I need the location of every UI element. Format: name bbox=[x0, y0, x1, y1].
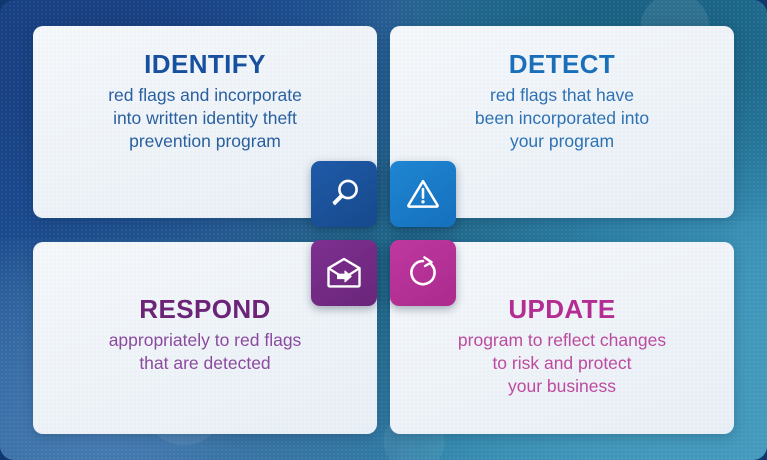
card-identify-body-line-2: into written identity theft bbox=[51, 107, 359, 130]
card-update-content: UPDATE program to reflect changes to ris… bbox=[390, 294, 734, 398]
card-identify-title: IDENTIFY bbox=[51, 49, 359, 80]
envelope-arrow-icon bbox=[324, 254, 364, 292]
card-detect-title: DETECT bbox=[408, 49, 716, 80]
card-respond-content: RESPOND appropriately to red flags that … bbox=[33, 294, 377, 375]
card-update-body: program to reflect changes to risk and p… bbox=[408, 329, 716, 399]
icon-tile-identify[interactable] bbox=[311, 161, 377, 227]
warning-triangle-icon bbox=[404, 175, 442, 213]
card-respond-body-line-1: appropriately to red flags bbox=[51, 329, 359, 352]
card-update-body-line-3: your business bbox=[408, 375, 716, 398]
card-detect-body-line-2: been incorporated into bbox=[408, 107, 716, 130]
card-respond-body: appropriately to red flags that are dete… bbox=[51, 329, 359, 376]
card-detect-body-line-1: red flags that have bbox=[408, 84, 716, 107]
card-identify-body: red flags and incorporate into written i… bbox=[51, 84, 359, 154]
card-identify-body-line-3: prevention program bbox=[51, 130, 359, 153]
icon-tile-detect[interactable] bbox=[390, 161, 456, 227]
card-detect-content: DETECT red flags that have been incorpor… bbox=[390, 49, 734, 153]
card-identify-body-line-1: red flags and incorporate bbox=[51, 84, 359, 107]
magnifier-icon bbox=[325, 175, 363, 213]
center-icon-cluster bbox=[311, 161, 456, 306]
card-identify-content: IDENTIFY red flags and incorporate into … bbox=[33, 49, 377, 153]
icon-tile-update[interactable] bbox=[390, 240, 456, 306]
card-detect-body-line-3: your program bbox=[408, 130, 716, 153]
card-update-body-line-1: program to reflect changes bbox=[408, 329, 716, 352]
card-respond-body-line-2: that are detected bbox=[51, 352, 359, 375]
card-update-body-line-2: to risk and protect bbox=[408, 352, 716, 375]
card-detect-body: red flags that have been incorporated in… bbox=[408, 84, 716, 154]
icon-tile-respond[interactable] bbox=[311, 240, 377, 306]
refresh-circle-icon bbox=[404, 254, 442, 292]
infographic-root: IDENTIFY red flags and incorporate into … bbox=[0, 0, 767, 460]
